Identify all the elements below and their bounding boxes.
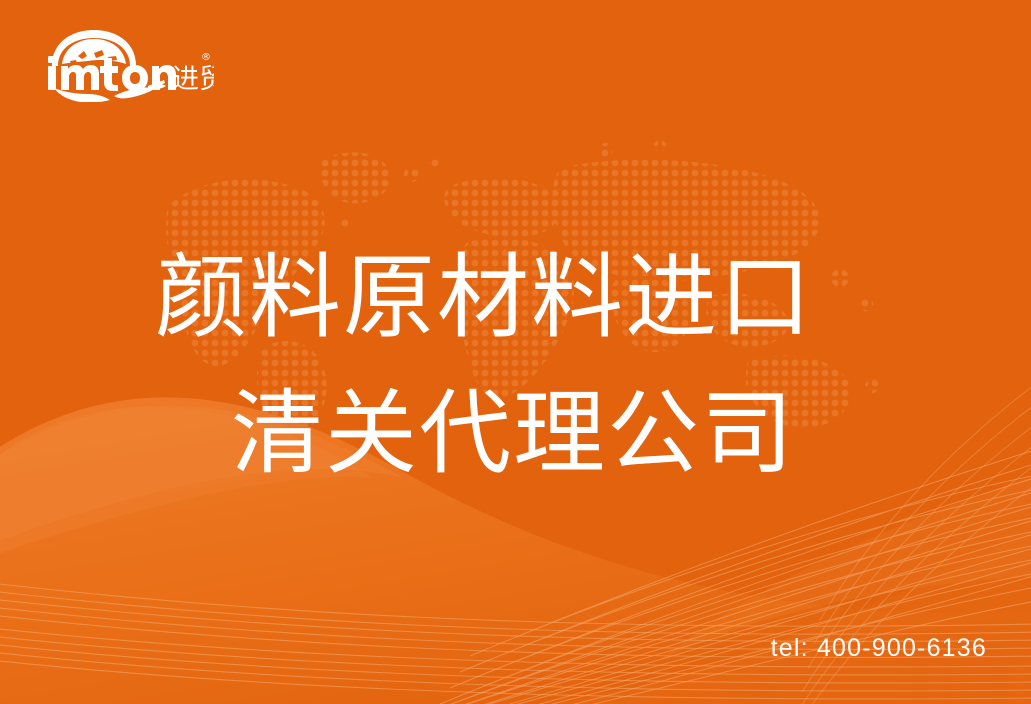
headline-line-1: 颜料原材料进口 [155, 230, 915, 366]
headline-block: 颜料原材料进口 清关代理公司 [155, 230, 915, 502]
globe-arc-icon [52, 30, 136, 66]
logo-chinese-name: 进贸通 [172, 64, 214, 95]
headline-line-2: 清关代理公司 [155, 366, 915, 502]
contact-phone: tel: 400-900-6136 [771, 634, 987, 663]
registered-trademark-icon: ® [201, 52, 211, 63]
company-logo[interactable]: 进贸通 ® [38, 26, 214, 102]
promotional-banner: 进贸通 ® 颜料原材料进口 清关代理公司 tel: 400-900-6136 [0, 0, 1031, 704]
